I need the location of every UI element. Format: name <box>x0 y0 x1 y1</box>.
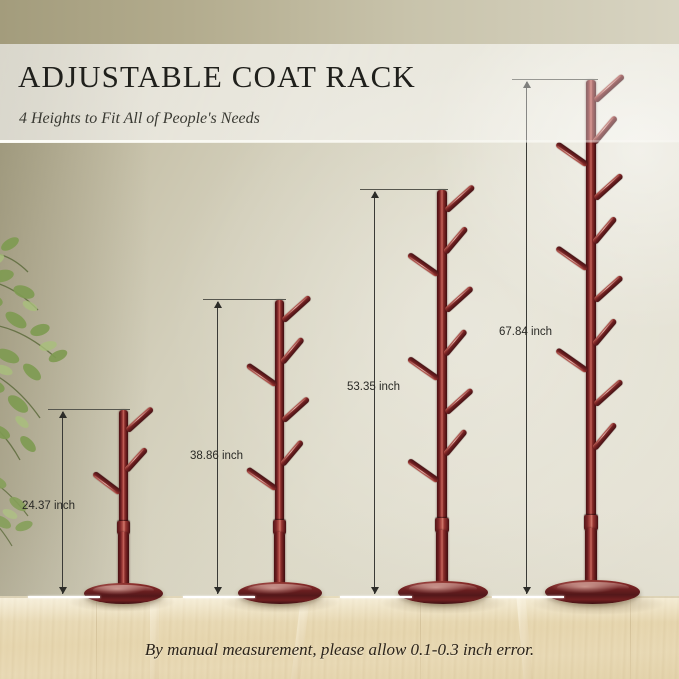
page-subtitle: 4 Heights to Fit All of People's Needs <box>19 110 260 128</box>
dim-3-tick-top <box>360 189 448 190</box>
dim-4-label: 67.84 inch <box>499 326 552 338</box>
dim-2-label: 38.86 inch <box>190 450 243 462</box>
dim-3-label: 53.35 inch <box>347 381 400 393</box>
rack-3-base <box>398 581 488 604</box>
dim-3-arrow-down <box>371 587 379 594</box>
page-title: ADJUSTABLE COAT RACK <box>18 59 416 95</box>
top-band <box>0 0 679 44</box>
rack-1-base <box>84 583 163 604</box>
plant-foliage-lower <box>0 430 56 560</box>
rack-2-base <box>238 582 322 604</box>
rack-3-base-gloss <box>409 583 477 594</box>
disclaimer-text: By manual measurement, please allow 0.1-… <box>0 640 679 660</box>
rack-2-upper-pole <box>275 300 284 522</box>
dim-4-tick-bottom <box>492 596 564 598</box>
title-banner-edge <box>0 140 679 143</box>
product-image-scene: 24.37 inch 38.86 inch <box>0 0 679 679</box>
dim-2-tick-top <box>203 299 286 300</box>
dim-2-arrow-down <box>214 587 222 594</box>
rack-4-base <box>545 580 640 604</box>
dim-3-arrow-up <box>371 191 379 198</box>
dim-1-tick-bottom <box>28 596 100 598</box>
dim-4-arrow-down <box>523 587 531 594</box>
rack-2-base-gloss <box>248 584 312 594</box>
dim-3-tick-bottom <box>340 596 412 598</box>
dim-2-arrow-up <box>214 301 222 308</box>
dim-1-arrow-up <box>59 411 67 418</box>
dim-1-label: 24.37 inch <box>22 500 75 512</box>
rack-4-base-gloss <box>557 582 629 593</box>
rack-1-base-gloss <box>93 585 154 595</box>
dim-3-line <box>374 192 375 594</box>
dim-2-tick-bottom <box>183 596 255 598</box>
dim-4-line <box>526 82 527 594</box>
dim-1-arrow-down <box>59 587 67 594</box>
dim-1-tick-top <box>48 409 130 410</box>
dim-2-line <box>217 302 218 594</box>
